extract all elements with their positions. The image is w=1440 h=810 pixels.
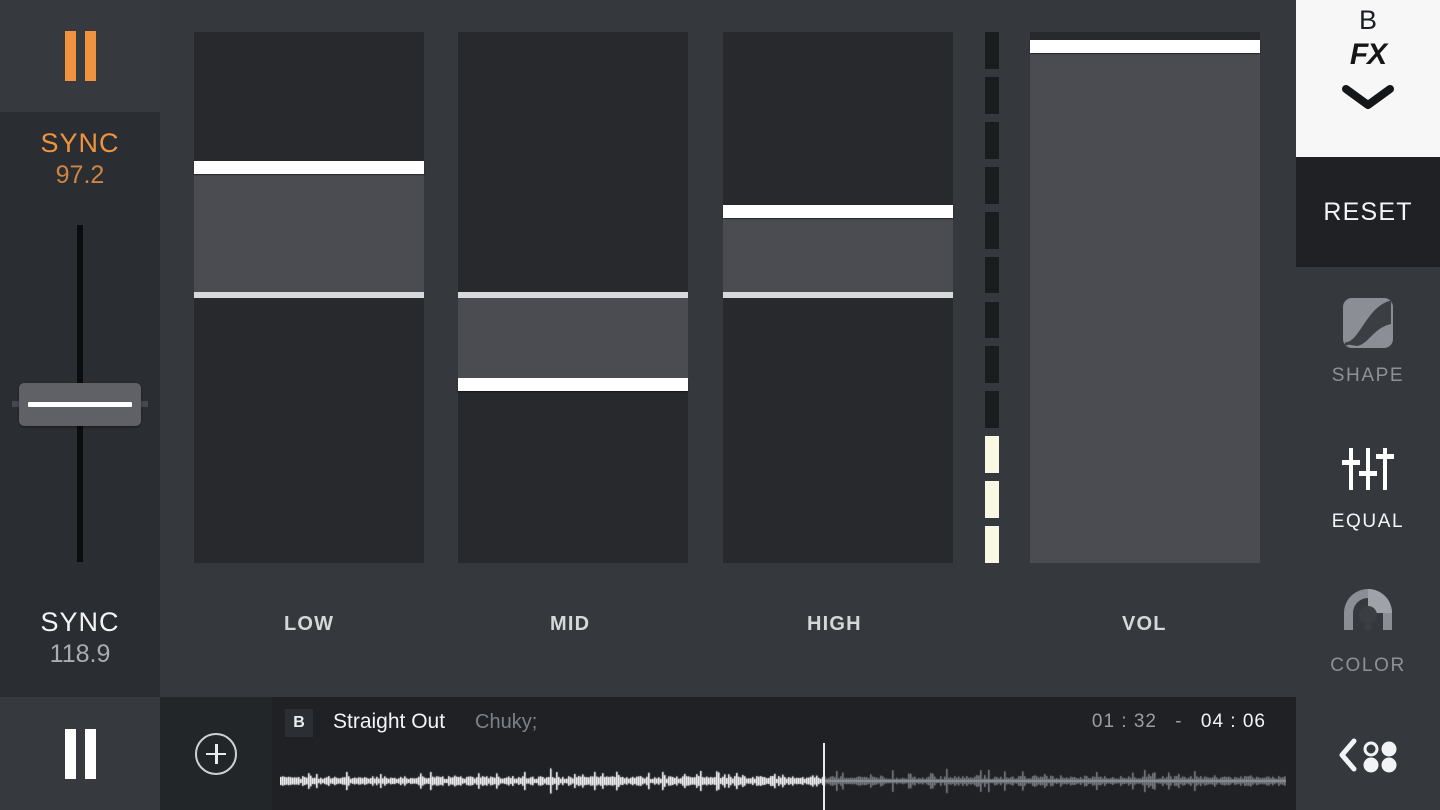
fx-item-shape[interactable]: SHAPE [1296, 290, 1440, 435]
label-low: LOW [284, 613, 334, 636]
crossfader-handle[interactable] [19, 383, 141, 426]
reset-button[interactable]: RESET [1296, 157, 1440, 267]
fader-high-center-line [723, 292, 953, 298]
plus-circle-icon[interactable] [195, 733, 237, 775]
deck-badge: B [285, 709, 313, 737]
time-display: 01 : 32 - 04 : 06 [1092, 711, 1266, 733]
fx-header-button[interactable]: B FX [1296, 0, 1440, 157]
fader-vol-fill [1030, 53, 1260, 563]
vu-segment [985, 257, 999, 294]
fx-label-equal: EQUAL [1296, 511, 1440, 533]
deck-b-sync-button[interactable]: SYNC 118.9 [0, 606, 160, 672]
vu-segment [985, 122, 999, 159]
fader-low[interactable] [194, 32, 424, 563]
vu-segment [985, 32, 999, 69]
deck-b-bpm-value: 118.9 [0, 638, 160, 672]
reset-label: RESET [1323, 198, 1412, 227]
color-knob-icon [1296, 580, 1440, 646]
vu-segment [985, 436, 999, 473]
fader-mid-fill [458, 298, 688, 379]
fader-high-handle[interactable] [723, 205, 953, 218]
label-high: HIGH [807, 613, 862, 636]
chevron-down-icon[interactable] [1342, 84, 1394, 110]
vu-segment [985, 167, 999, 204]
vu-segment [985, 526, 999, 563]
deck-b-play-pause-button[interactable] [0, 697, 160, 810]
sliders-icon [1296, 436, 1440, 502]
track-bar: B Straight Out Chuky; 01 : 32 - 04 : 06 [160, 697, 1296, 810]
deck-a-play-pause-button[interactable] [0, 0, 160, 112]
vu-segment [985, 77, 999, 114]
channel-labels: LOW MID HIGH VOL [160, 613, 1296, 655]
vu-segment [985, 481, 999, 518]
vu-segment [985, 212, 999, 249]
fader-low-handle[interactable] [194, 161, 424, 174]
deck-a-bpm-value: 97.2 [0, 159, 160, 192]
deck-b-sync-label: SYNC [0, 606, 160, 638]
vu-meter [985, 32, 999, 563]
grid-view-button[interactable] [1296, 700, 1440, 810]
label-vol: VOL [1122, 613, 1167, 636]
elapsed-time: 01 : 32 [1092, 711, 1157, 732]
fader-high[interactable] [723, 32, 953, 563]
label-mid: MID [550, 613, 590, 636]
fader-low-center-line [194, 292, 424, 298]
left-deck-column: SYNC 97.2 SYNC 118.9 [0, 0, 160, 810]
fader-mid-handle[interactable] [458, 378, 688, 391]
fx-title: FX [1296, 36, 1440, 74]
chevron-left-grid-icon[interactable] [1336, 736, 1400, 774]
deck-a-sync-label: SYNC [0, 128, 160, 159]
total-time: 04 : 06 [1201, 711, 1266, 732]
fx-item-equal[interactable]: EQUAL [1296, 436, 1440, 581]
shape-icon [1296, 290, 1440, 356]
waveform[interactable] [280, 759, 1286, 803]
pause-icon [65, 31, 96, 81]
track-info: B Straight Out Chuky; 01 : 32 - 04 : 06 [285, 709, 1296, 745]
crossfader-tick-right [140, 401, 148, 407]
crossfader-area: SYNC 118.9 [0, 202, 160, 697]
deck-a-sync-button[interactable]: SYNC 97.2 [0, 112, 160, 202]
fx-label-color: COLOR [1296, 655, 1440, 677]
waveform-canvas[interactable] [280, 759, 1286, 803]
track-artist: Chuky; [475, 711, 537, 734]
fader-low-fill [194, 174, 424, 297]
fx-deck-label: B [1296, 4, 1440, 36]
time-separator: - [1163, 711, 1194, 732]
fader-vol[interactable] [1030, 32, 1260, 563]
fader-high-fill [723, 218, 953, 297]
vu-segment [985, 346, 999, 383]
pause-icon [65, 729, 96, 779]
fx-label-shape: SHAPE [1296, 365, 1440, 387]
playhead[interactable] [823, 743, 825, 810]
fader-mid[interactable] [458, 32, 688, 563]
vu-segment [985, 302, 999, 339]
mixer-panel [160, 0, 1296, 697]
vu-segment [985, 391, 999, 428]
add-track-cell[interactable] [160, 697, 272, 810]
dj-mixer-app: SYNC 97.2 SYNC 118.9 [0, 0, 1440, 810]
fader-vol-handle[interactable] [1030, 40, 1260, 53]
fx-sidebar: B FX RESET SHAPE [1296, 0, 1440, 810]
track-title: Straight Out [333, 710, 445, 734]
fader-mid-center-line [458, 292, 688, 298]
